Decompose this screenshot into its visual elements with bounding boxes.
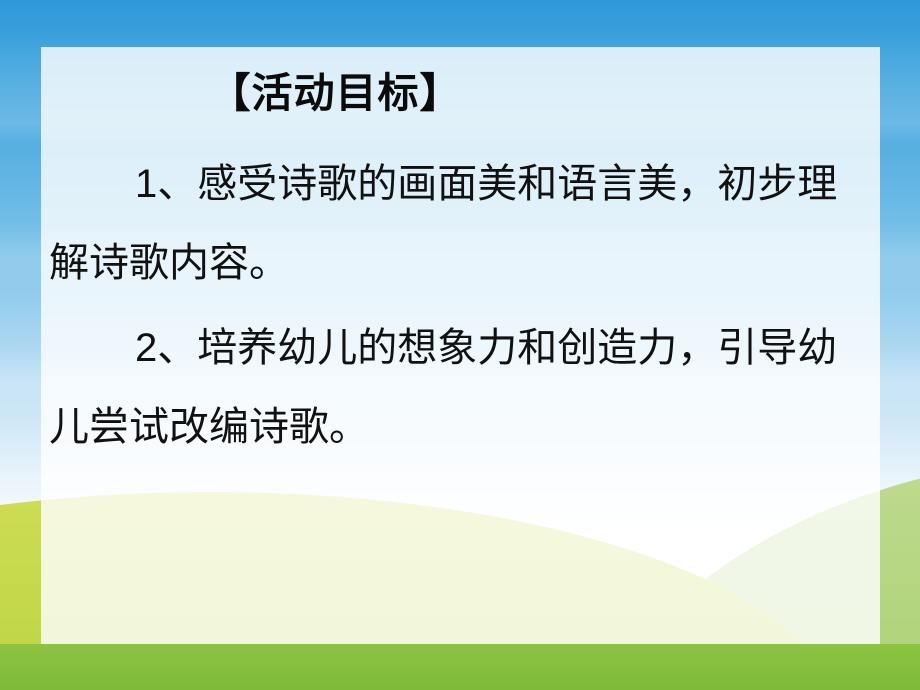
grass-strip (0, 644, 920, 690)
content-panel-inner: 【活动目标】 1、感受诗歌的画面美和语言美，初步理解诗歌内容。 2、培养幼儿的想… (41, 47, 880, 644)
slide-title: 【活动目标】 (41, 69, 880, 117)
objectives-list: 1、感受诗歌的画面美和语言美，初步理解诗歌内容。 2、培养幼儿的想象力和创造力，… (49, 145, 869, 467)
objective-item-1: 1、感受诗歌的画面美和语言美，初步理解诗歌内容。 (49, 145, 869, 303)
slide-canvas: 【活动目标】 1、感受诗歌的画面美和语言美，初步理解诗歌内容。 2、培养幼儿的想… (0, 0, 920, 690)
objective-item-2: 2、培养幼儿的想象力和创造力，引导幼儿尝试改编诗歌。 (49, 309, 869, 467)
content-panel: 【活动目标】 1、感受诗歌的画面美和语言美，初步理解诗歌内容。 2、培养幼儿的想… (41, 47, 880, 644)
